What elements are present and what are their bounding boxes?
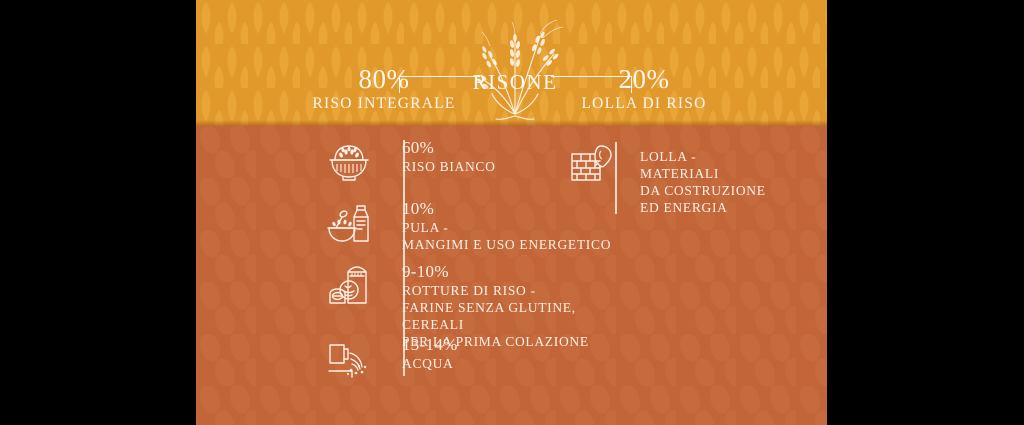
flour-bag-icon (326, 264, 372, 308)
header-left-percent: 80% (304, 64, 464, 94)
list-item-percent: 10% (402, 198, 622, 219)
list-item-percent: 13-14% (402, 334, 622, 355)
rice-processing-infographic: 80% RISO INTEGRALE 20% LOLLA DI RISO (0, 0, 1024, 425)
header-right-stat: 20% LOLLA DI RISO (564, 64, 724, 114)
list-item-description: LOLLA - MATERIALI DA COSTRUZIONE ED ENER… (640, 148, 827, 216)
header-band: 80% RISO INTEGRALE 20% LOLLA DI RISO (196, 0, 827, 126)
content-panel: 80% RISO INTEGRALE 20% LOLLA DI RISO (196, 0, 827, 425)
water-faucet-icon (326, 337, 372, 381)
header-right-label: LOLLA DI RISO (564, 94, 724, 114)
rice-bowl-icon (326, 140, 372, 184)
list-item-description: ACQUA (402, 355, 622, 372)
list-item-text: 10% PULA - MANGIMI E USO ENERGETICO (402, 198, 622, 253)
list-item-description: PULA - MANGIMI E USO ENERGETICO (402, 219, 622, 253)
list-item-text: LOLLA - MATERIALI DA COSTRUZIONE ED ENER… (640, 148, 827, 216)
list-item-percent: 9-10% (402, 261, 622, 282)
cereal-bowl-milk-icon (326, 201, 372, 245)
header-left-label: RISO INTEGRALE (304, 94, 464, 114)
body-band: 60% RISO BIANCO (196, 126, 827, 425)
header-inner: 80% RISO INTEGRALE 20% LOLLA DI RISO (196, 0, 827, 126)
list-item-text: 13-14% ACQUA (402, 334, 622, 372)
risone-logo: RISONE (460, 18, 570, 122)
brick-wall-lightbulb-icon (568, 142, 614, 186)
logo-wordmark: RISONE (460, 70, 570, 95)
header-left-stat: 80% RISO INTEGRALE (304, 64, 464, 114)
header-right-percent: 20% (564, 64, 724, 94)
